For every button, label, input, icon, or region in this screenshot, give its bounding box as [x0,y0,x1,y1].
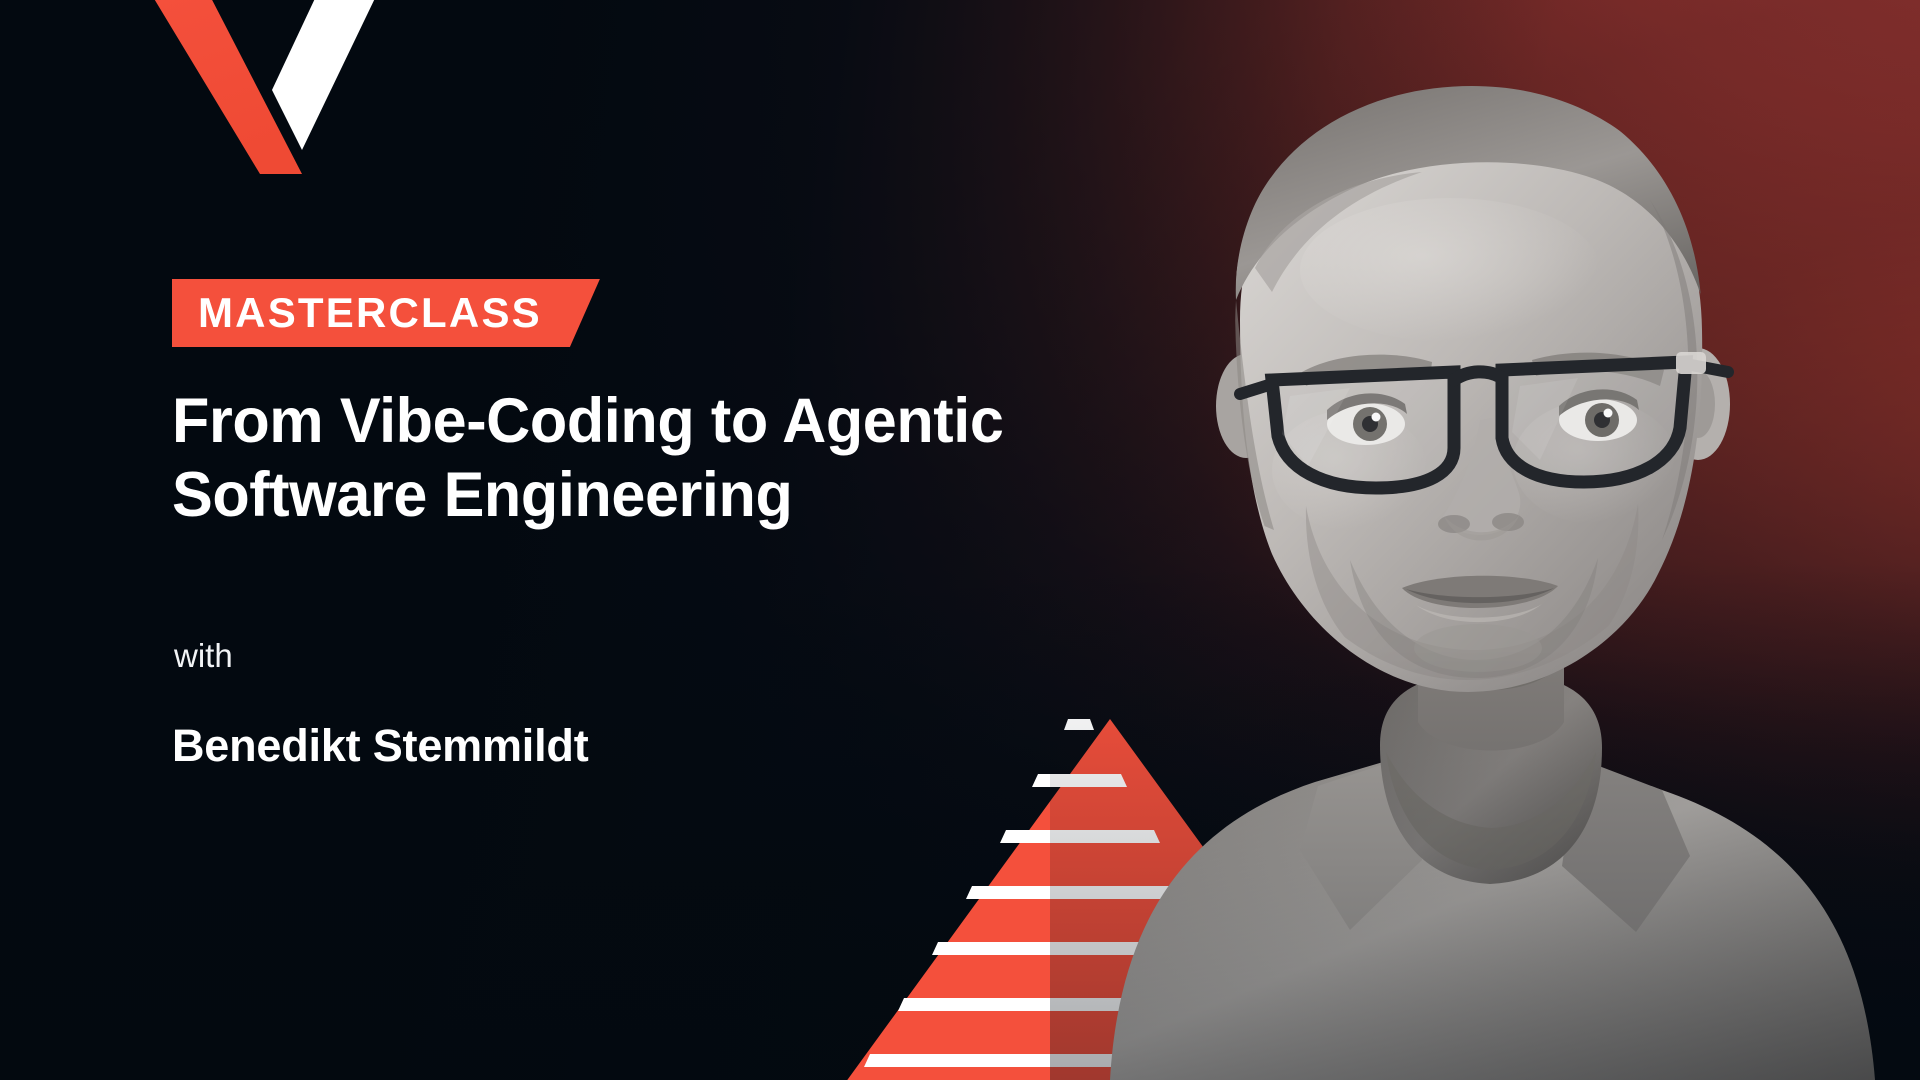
page-title: From Vibe-Coding to Agentic Software Eng… [172,385,1152,532]
headline-line-1: From Vibe-Coding to Agentic [172,385,1152,459]
speaker-preposition: with [174,639,233,672]
masterclass-badge-label: MASTERCLASS [198,292,542,334]
content-block: MASTERCLASS From Vibe-Coding to Agentic … [172,0,1232,1080]
headline-line-2: Software Engineering [172,459,1152,533]
masterclass-badge: MASTERCLASS [172,279,600,347]
masterclass-promo-banner: MASTERCLASS From Vibe-Coding to Agentic … [0,0,1920,1080]
speaker-name: Benedikt Stemmildt [172,723,588,768]
